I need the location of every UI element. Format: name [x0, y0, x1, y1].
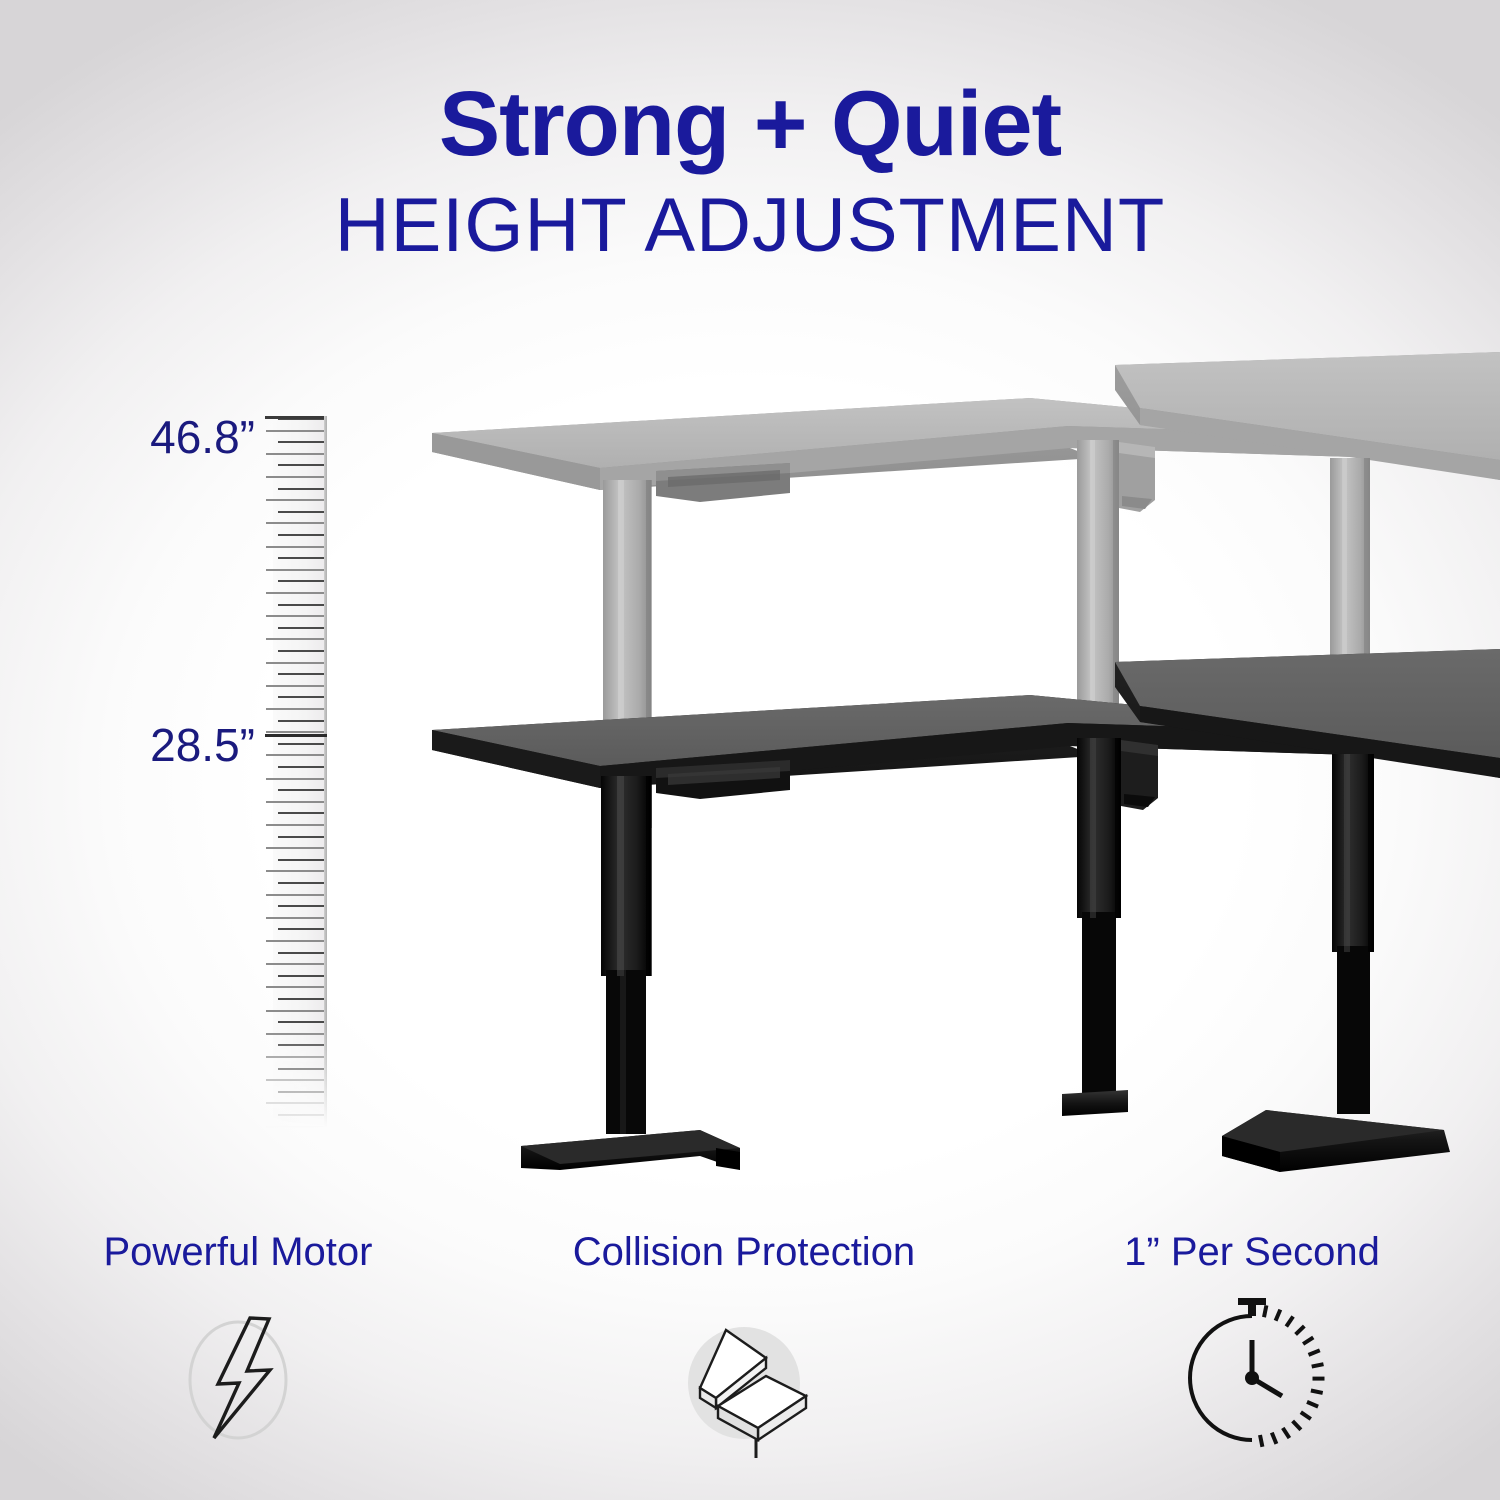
stopwatch-clock-icon	[1152, 1288, 1352, 1468]
page-title: Strong + Quiet	[0, 78, 1500, 170]
feature-row: Powerful Motor Collision Protection	[0, 1232, 1500, 1500]
feature-label-powerful-motor: Powerful Motor	[0, 1232, 488, 1272]
leg-lowered-corner	[1062, 738, 1158, 1116]
desk-collision-icon	[644, 1288, 844, 1468]
feature-label-collision-protection: Collision Protection	[494, 1232, 994, 1272]
page-subtitle: HEIGHT ADJUSTMENT	[0, 188, 1500, 264]
standing-desk-illustration	[0, 330, 1500, 1260]
infographic-canvas: Strong + Quiet HEIGHT ADJUSTMENT 46.8” 2…	[0, 0, 1500, 1500]
desktop-lowered-return	[1115, 649, 1500, 778]
feature-speed: 1” Per Second	[1002, 1232, 1500, 1468]
feature-label-speed: 1” Per Second	[1002, 1232, 1500, 1272]
feature-powerful-motor: Powerful Motor	[0, 1232, 488, 1468]
lightning-bolt-icon	[138, 1288, 338, 1468]
desk-lowered	[432, 649, 1500, 1172]
desktop-raised-return	[1115, 352, 1500, 480]
feature-collision-protection: Collision Protection	[494, 1232, 994, 1468]
leg-lowered-left	[521, 776, 740, 1170]
leg-lowered-return	[1222, 754, 1450, 1172]
